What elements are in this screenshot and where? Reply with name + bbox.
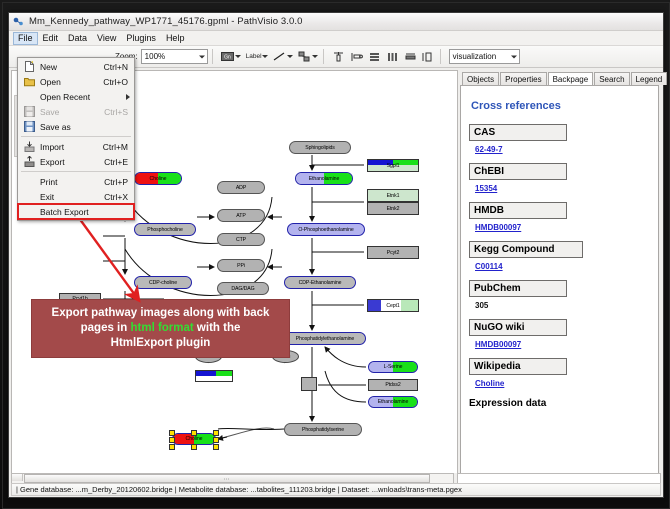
same-height-icon[interactable]: [421, 49, 436, 64]
blank-icon: [18, 189, 40, 204]
node-dag[interactable]: DAG/DAG: [217, 282, 269, 295]
node-l-serine[interactable]: L-Serine: [368, 361, 418, 373]
file-menu-item-batch-export[interactable]: Batch Export: [18, 204, 134, 219]
screen: Mm_Kennedy_pathway_WP1771_45176.gpml - P…: [0, 0, 670, 509]
node-pemt-box[interactable]: [195, 370, 233, 382]
node-adp[interactable]: ADP: [217, 181, 265, 194]
node-o-phosphoethanolamine[interactable]: O-Phosphoethanolamine: [287, 223, 365, 236]
backpage-content: Cross references CAS 62-49-7 ChEBI 15354…: [460, 85, 659, 493]
title-bar: Mm_Kennedy_pathway_WP1771_45176.gpml - P…: [9, 13, 663, 31]
file-menu-item-save-as[interactable]: Save as: [18, 119, 134, 134]
selection-handle[interactable]: [169, 430, 175, 436]
file-menu-label-new: New: [40, 62, 104, 72]
xref-value-cas[interactable]: 62-49-7: [475, 145, 650, 154]
chevron-down-icon: [199, 55, 205, 58]
node-ppi[interactable]: PPi: [217, 259, 265, 272]
selection-handle[interactable]: [213, 444, 219, 450]
gene-product-icon[interactable]: Gn: [220, 49, 235, 64]
same-width-icon[interactable]: [403, 49, 418, 64]
file-menu-label-open: Open: [40, 77, 103, 87]
toolbar-separator: [212, 49, 213, 64]
node-cept1[interactable]: Cept1: [367, 299, 419, 312]
line-icon[interactable]: [272, 49, 287, 64]
file-menu-shortcut-new: Ctrl+N: [104, 62, 134, 72]
scroll-left-button[interactable]: [12, 474, 23, 481]
file-menu-item-save[interactable]: Save Ctrl+S: [18, 104, 134, 119]
pathvisio-icon: [13, 16, 24, 27]
blank-icon: [18, 89, 40, 104]
menu-edit[interactable]: Edit: [38, 32, 64, 45]
menu-data[interactable]: Data: [63, 32, 92, 45]
scrollbar-thumb[interactable]: ⋯: [24, 474, 430, 483]
align-top-icon[interactable]: [331, 49, 346, 64]
xref-value-pubchem: 305: [475, 301, 650, 310]
file-menu-label-exit: Exit: [40, 192, 104, 202]
node-cdp-ethanolamine[interactable]: CDP-Ethanolamine: [284, 276, 356, 289]
zoom-combo[interactable]: 100%: [141, 49, 208, 64]
chevron-down-icon: [511, 55, 517, 58]
file-menu-label-save: Save: [40, 107, 104, 117]
menu-help[interactable]: Help: [161, 32, 190, 45]
shape-icon[interactable]: [297, 49, 312, 64]
node-cdp-choline[interactable]: CDP-choline: [134, 276, 192, 289]
callout-line-3: HtmlExport plugin: [111, 336, 211, 351]
xref-source-pubchem: PubChem: [469, 280, 567, 297]
scrollbar-grip: ⋯: [224, 476, 231, 483]
file-menu-label-open-recent: Open Recent: [40, 92, 134, 102]
file-menu-item-open-recent[interactable]: Open Recent: [18, 89, 134, 104]
tab-legend[interactable]: Legend: [631, 72, 668, 85]
selection-handle[interactable]: [213, 437, 219, 443]
visualization-value: visualization: [453, 52, 497, 61]
node-ethanolamine-top[interactable]: Ethanolamine: [295, 172, 353, 185]
xref-value-nugo-wiki[interactable]: HMDB00097: [475, 340, 650, 349]
node-ethanolamine-2[interactable]: Ethanolamine: [368, 396, 418, 408]
file-menu-label-save-as: Save as: [40, 122, 128, 132]
node-etnk1[interactable]: Etnk1: [367, 189, 419, 202]
side-panel-tabs: Objects Properties Backpage Search Legen…: [460, 70, 659, 85]
node-fill: [196, 371, 232, 381]
node-phosphatidylserine[interactable]: Phosphatidylserine: [284, 423, 362, 436]
file-menu-shortcut-exit: Ctrl+X: [104, 192, 134, 202]
xref-value-kegg-compound[interactable]: C00114: [475, 262, 650, 271]
selection-handle[interactable]: [191, 444, 197, 450]
xref-source-cas: CAS: [469, 124, 567, 141]
callout-line-2-prefix: pages in: [81, 322, 131, 334]
file-menu-shortcut-export: Ctrl+E: [104, 157, 134, 167]
backpage-title: Cross references: [471, 100, 650, 112]
expression-data-heading: Expression data: [469, 398, 650, 409]
file-menu-separator-2: [21, 171, 131, 172]
menu-bar: File Edit Data View Plugins Help: [9, 31, 663, 46]
node-ptdss2[interactable]: Ptdss2: [368, 379, 418, 391]
import-icon: [18, 139, 40, 154]
xref-source-wikipedia: Wikipedia: [469, 358, 567, 375]
status-bar: | Gene database: ...m_Derby_20120602.bri…: [11, 483, 661, 496]
file-menu-label-import: Import: [40, 142, 103, 152]
folder-icon: [18, 74, 40, 89]
file-menu-item-new[interactable]: New Ctrl+N: [18, 59, 134, 74]
application-window: Mm_Kennedy_pathway_WP1771_45176.gpml - P…: [8, 12, 664, 498]
xref-source-kegg-compound: Kegg Compound: [469, 241, 583, 258]
tab-objects[interactable]: Objects: [462, 72, 499, 85]
selection-handle[interactable]: [169, 437, 175, 443]
file-menu-label-batch-export: Batch Export: [40, 207, 134, 217]
file-menu-label-print: Print: [40, 177, 104, 187]
file-menu-shortcut-open: Ctrl+O: [103, 77, 134, 87]
zoom-value: 100%: [145, 52, 165, 61]
callout-line-2: pages in html format with the: [81, 321, 241, 336]
file-menu-shortcut-save: Ctrl+S: [104, 107, 134, 117]
visualization-combo[interactable]: visualization: [449, 49, 520, 64]
node-etnk2[interactable]: Etnk2: [367, 202, 419, 215]
xref-value-chebi[interactable]: 15354: [475, 184, 650, 193]
xref-source-hmdb: HMDB: [469, 202, 567, 219]
submenu-arrow-icon: [126, 94, 130, 100]
tab-properties[interactable]: Properties: [500, 72, 546, 85]
node-phosphocholine[interactable]: Phosphocholine: [134, 223, 196, 236]
callout-line-1: Export pathway images along with back: [52, 306, 270, 321]
node-sgpl1[interactable]: Sgpl1: [367, 159, 419, 172]
menu-view[interactable]: View: [92, 32, 121, 45]
side-panel: Objects Properties Backpage Search Legen…: [460, 70, 659, 493]
menu-plugins[interactable]: Plugins: [121, 32, 161, 45]
node-pcyt2[interactable]: Pcyt2: [367, 246, 419, 259]
menu-file[interactable]: File: [13, 32, 38, 45]
node-phosphatidylethanolamine[interactable]: Phosphatidylethanolamine: [284, 332, 366, 345]
node-sphingolipids[interactable]: Sphingolipids: [289, 141, 351, 154]
xref-value-hmdb[interactable]: HMDB00097: [475, 223, 650, 232]
node-atp[interactable]: ATP: [217, 209, 265, 222]
label-button[interactable]: Label: [246, 53, 262, 60]
xref-source-nugo-wiki: NuGO wiki: [469, 319, 567, 336]
file-menu-item-print[interactable]: Print Ctrl+P: [18, 174, 134, 189]
xref-source-chebi: ChEBI: [469, 163, 567, 180]
callout-highlight: html format: [130, 322, 193, 334]
save-icon: [18, 104, 40, 119]
distribute-horizontal-icon[interactable]: [385, 49, 400, 64]
selection-handle[interactable]: [191, 430, 197, 436]
file-menu-label-export: Export: [40, 157, 104, 167]
window-title: Mm_Kennedy_pathway_WP1771_45176.gpml - P…: [29, 16, 303, 27]
status-area: ⋯ | Gene database: ...m_Derby_20120602.b…: [9, 473, 663, 497]
align-left-icon[interactable]: [349, 49, 364, 64]
distribute-vertical-icon[interactable]: [367, 49, 382, 64]
file-menu-item-export[interactable]: Export Ctrl+E: [18, 154, 134, 169]
status-bar-text: | Gene database: ...m_Derby_20120602.bri…: [12, 485, 462, 494]
node-gray-connector[interactable]: [301, 377, 317, 391]
save-as-icon: [18, 119, 40, 134]
file-menu-item-exit[interactable]: Exit Ctrl+X: [18, 189, 134, 204]
blank-icon: [18, 204, 40, 219]
toolbar-separator-3: [440, 49, 441, 64]
toolbar-separator-2: [323, 49, 324, 64]
file-menu-item-import[interactable]: Import Ctrl+M: [18, 139, 134, 154]
node-ctp[interactable]: CTP: [217, 233, 265, 246]
callout-line-2-suffix: with the: [194, 322, 241, 334]
selection-handle[interactable]: [213, 430, 219, 436]
new-file-icon: [18, 59, 40, 74]
file-menu-dropdown[interactable]: New Ctrl+N Open Ctrl+O Open Recent Save: [17, 57, 135, 221]
label-dropdown-icon[interactable]: [262, 49, 269, 64]
line-dropdown-icon[interactable]: [287, 49, 294, 64]
blank-icon: [18, 174, 40, 189]
export-icon: [18, 154, 40, 169]
file-menu-shortcut-print: Ctrl+P: [104, 177, 134, 187]
node-choline-top[interactable]: Choline: [134, 172, 182, 185]
file-menu-item-open[interactable]: Open Ctrl+O: [18, 74, 134, 89]
gene-product-dropdown-icon[interactable]: [235, 49, 242, 64]
xref-value-wikipedia[interactable]: Choline: [475, 379, 650, 388]
svg-text:Gn: Gn: [224, 55, 231, 61]
file-menu-separator-1: [21, 136, 131, 137]
shape-dropdown-icon[interactable]: [312, 49, 319, 64]
selection-handle[interactable]: [169, 444, 175, 450]
tab-search[interactable]: Search: [594, 72, 629, 85]
file-menu-shortcut-import: Ctrl+M: [103, 142, 134, 152]
annotation-callout: Export pathway images along with back pa…: [31, 299, 290, 358]
tab-backpage[interactable]: Backpage: [548, 72, 594, 86]
